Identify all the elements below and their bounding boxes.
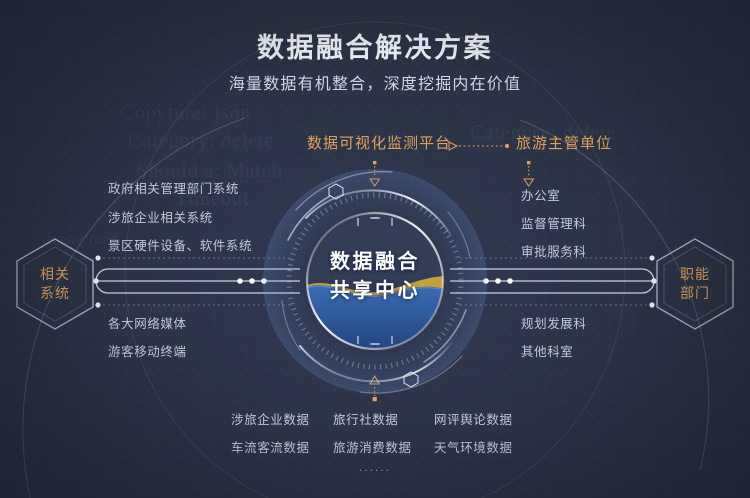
center-hub[interactable] <box>0 0 750 498</box>
infographic-canvas: Copyture: json Category: delete Should a… <box>0 0 750 498</box>
